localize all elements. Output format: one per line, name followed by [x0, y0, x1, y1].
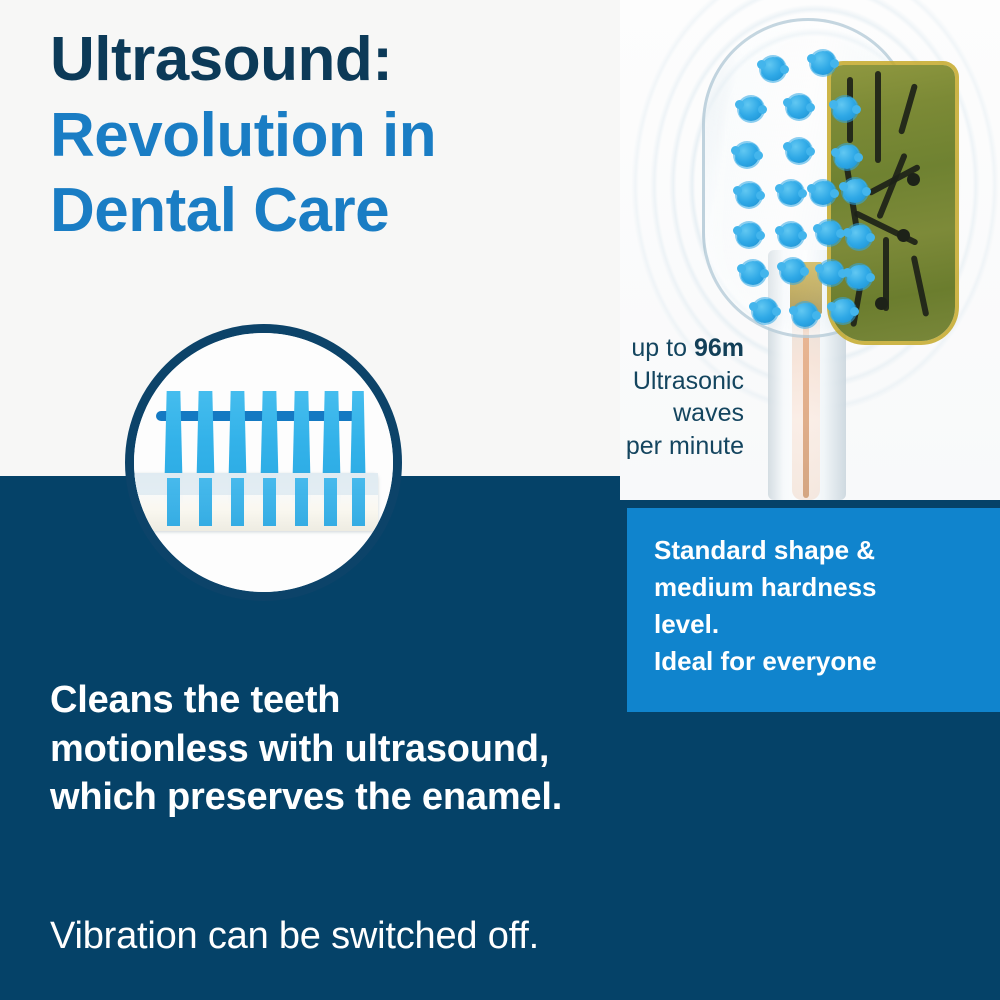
bristle-root — [167, 478, 180, 526]
bristle-tuft — [819, 261, 843, 285]
bristle-tuft — [737, 183, 761, 207]
bristle-tuft — [739, 97, 763, 121]
bristle-root — [352, 478, 365, 526]
callout-line-4: Ideal for everyone — [654, 643, 984, 680]
handle-copper-coil — [803, 318, 809, 498]
callout-line-2: medium hardness — [654, 569, 984, 606]
bristle-tuft — [835, 145, 859, 169]
copy-main-line-3: which preserves the enamel. — [50, 773, 650, 822]
headline-line-3: Dental Care — [50, 173, 610, 249]
bristle-root — [231, 478, 244, 526]
callout-line-1: Standard shape & — [654, 532, 984, 569]
page-title: Ultrasound: Revolution in Dental Care — [50, 22, 610, 249]
bristle-tuft — [847, 225, 871, 249]
headline-line-1: Ultrasound: — [50, 22, 610, 98]
bristle-tuft — [735, 143, 759, 167]
infographic-poster: Ultrasound: Revolution in Dental Care up… — [0, 0, 1000, 1000]
bristle-tuft — [779, 181, 803, 205]
circuit-trace — [911, 255, 930, 317]
bristle-closeup-circle-inset — [125, 324, 402, 601]
bristle-tuft — [781, 259, 805, 283]
main-benefit-copy: Cleans the teeth motionless with ultraso… — [50, 676, 650, 822]
circuit-solder-dot — [907, 173, 920, 186]
callout-line-3: level. — [654, 606, 984, 643]
circuit-trace — [875, 71, 881, 163]
bristle-tuft — [847, 265, 871, 289]
bristle-closeup-photo — [134, 333, 393, 592]
bristle-root — [199, 478, 212, 526]
bristle-tuft — [833, 97, 857, 121]
bristle-tuft — [811, 181, 835, 205]
spec-prefix: up to — [631, 334, 694, 362]
bristle-root — [324, 478, 337, 526]
bristle-root — [295, 478, 308, 526]
bristle-tuft — [787, 95, 811, 119]
vibration-note-copy: Vibration can be switched off. — [50, 912, 670, 961]
circuit-solder-dot — [875, 297, 888, 310]
spec-line-4: per minute — [520, 430, 744, 463]
bristle-tuft — [843, 179, 867, 203]
bristle-tuft — [741, 261, 765, 285]
bristle-tuft — [753, 299, 777, 323]
bristle-tuft — [811, 51, 835, 75]
bristle-tuft — [787, 139, 811, 163]
circuit-solder-dot — [897, 229, 910, 242]
headline-line-2: Revolution in — [50, 98, 610, 174]
copy-main-line-2: motionless with ultrasound, — [50, 725, 650, 774]
bristle-root — [263, 478, 276, 526]
copy-main-line-1: Cleans the teeth — [50, 676, 650, 725]
spec-line-1: up to 96m — [520, 332, 744, 365]
bristle-tuft — [793, 303, 817, 327]
spec-line-2: Ultrasonic — [520, 365, 744, 398]
circuit-trace — [898, 83, 918, 135]
bristle-tuft — [737, 223, 761, 247]
callout-text: Standard shape & medium hardness level. … — [654, 532, 984, 680]
ultrasonic-spec-text: up to 96m Ultrasonic waves per minute — [520, 332, 744, 462]
spec-line-3: waves — [520, 397, 744, 430]
brush-head-shell — [702, 18, 914, 338]
bristle-tuft — [779, 223, 803, 247]
spec-value: 96m — [694, 334, 744, 362]
hardness-callout-box: Standard shape & medium hardness level. … — [627, 508, 1000, 712]
bristle-tuft — [817, 221, 841, 245]
bristle-tuft — [761, 57, 785, 81]
bristle-tuft — [831, 299, 855, 323]
